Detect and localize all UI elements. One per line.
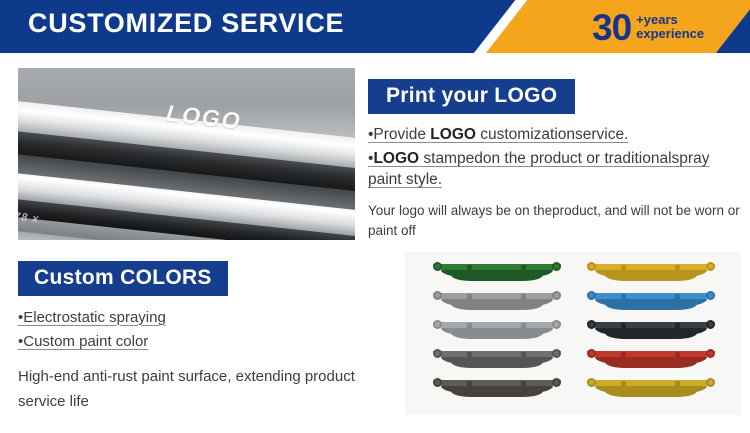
years-number: 30 — [592, 9, 631, 46]
page-title: CUSTOMIZED SERVICE — [28, 8, 344, 39]
spring-clip — [467, 323, 472, 336]
spring-eye-left — [433, 291, 442, 300]
spring-leaf — [605, 304, 697, 310]
leaf-spring-dark-gray — [433, 349, 561, 371]
spring-eye-right — [552, 291, 561, 300]
custom-colors-section: Custom COLORS •Electrostatic spraying •C… — [18, 261, 386, 414]
list-item: •LOGO stampedon the product or tradition… — [368, 149, 744, 190]
list-item: •Custom paint color — [18, 332, 386, 352]
spring-clip — [467, 381, 472, 394]
spring-eye-right — [706, 349, 715, 358]
custom-colors-description: High-end anti-rust paint surface, extend… — [18, 365, 386, 414]
years-experience-badge: 30 +years experience — [592, 2, 750, 52]
leaf-spring-navy — [587, 320, 715, 342]
spring-clip — [521, 381, 526, 394]
leaf-spring-green — [433, 262, 561, 284]
custom-colors-bullet-list: •Electrostatic spraying •Custom paint co… — [18, 308, 386, 353]
spring-eye-left — [433, 349, 442, 358]
spring-eye-right — [552, 262, 561, 271]
list-item: •Electrostatic spraying — [18, 308, 386, 328]
leaf-spring-gold — [587, 378, 715, 400]
leaf-spring-brown-gray — [433, 378, 561, 400]
spring-clip — [621, 352, 626, 365]
spring-leaf — [451, 333, 543, 339]
spring-eye-right — [706, 320, 715, 329]
spring-leaf — [605, 333, 697, 339]
spring-leaf — [605, 275, 697, 281]
spring-clip — [467, 265, 472, 278]
leaf-spring-gray — [433, 291, 561, 313]
spring-eye-right — [706, 291, 715, 300]
header-banner: CUSTOMIZED SERVICE 30 +years experience — [0, 0, 750, 53]
spring-eye-right — [552, 378, 561, 387]
spring-eye-left — [433, 262, 442, 271]
spring-clip — [621, 294, 626, 307]
print-logo-bullet-list: •Provide LOGO customizationservice. •LOG… — [368, 125, 744, 191]
spring-eye-left — [587, 291, 596, 300]
spring-leaf — [451, 391, 543, 397]
spring-eye-left — [433, 320, 442, 329]
leaf-spring-light-gray — [433, 320, 561, 342]
spring-leaf — [451, 275, 543, 281]
spring-clip — [675, 352, 680, 365]
spring-eye-left — [433, 378, 442, 387]
years-experience-label: experience — [636, 27, 704, 41]
leaf-spring-blue — [587, 291, 715, 313]
leaf-spring-yellow — [587, 262, 715, 284]
bullet-bold-word: LOGO — [373, 150, 419, 167]
photo-small-marking: 78 x — [18, 211, 40, 226]
spring-clip — [521, 352, 526, 365]
bullet-suffix: stampedon the product or traditionalspra… — [368, 150, 709, 188]
spring-clip — [621, 265, 626, 278]
spring-leaf — [451, 304, 543, 310]
bullet-bold-word: LOGO — [430, 126, 476, 143]
spring-clip — [521, 265, 526, 278]
list-item: •Provide LOGO customizationservice. — [368, 125, 744, 146]
spring-eye-right — [552, 349, 561, 358]
spring-clip — [467, 294, 472, 307]
spring-clip — [675, 323, 680, 336]
spring-eye-right — [552, 320, 561, 329]
spring-clip — [675, 294, 680, 307]
spring-eye-left — [587, 349, 596, 358]
spring-leaf — [605, 362, 697, 368]
spring-eye-right — [706, 378, 715, 387]
spring-eye-right — [706, 262, 715, 271]
years-label-stack: +years experience — [636, 13, 704, 41]
spring-clip — [621, 381, 626, 394]
spring-eye-left — [587, 262, 596, 271]
leaf-spring-red — [587, 349, 715, 371]
spring-clip — [521, 323, 526, 336]
print-logo-heading-badge: Print your LOGO — [368, 79, 575, 114]
bullet-suffix: customizationservice. — [476, 126, 628, 143]
product-color-grid — [405, 252, 741, 415]
print-logo-description: Your logo will always be on theproduct, … — [368, 201, 744, 239]
spring-leaf — [605, 391, 697, 397]
product-grid-left-column — [433, 262, 561, 408]
years-plus-label: +years — [636, 13, 704, 27]
logo-stamp-photo: LOGO 78 x — [18, 68, 355, 240]
spring-clip — [675, 265, 680, 278]
custom-colors-heading-badge: Custom COLORS — [18, 261, 228, 296]
spring-clip — [521, 294, 526, 307]
spring-clip — [621, 323, 626, 336]
product-grid-right-column — [587, 262, 715, 408]
spring-leaf — [451, 362, 543, 368]
spring-eye-left — [587, 378, 596, 387]
spring-eye-left — [587, 320, 596, 329]
spring-clip — [675, 381, 680, 394]
print-logo-section: Print your LOGO •Provide LOGO customizat… — [368, 79, 744, 240]
spring-clip — [467, 352, 472, 365]
bullet-prefix: •Provide — [368, 126, 430, 143]
